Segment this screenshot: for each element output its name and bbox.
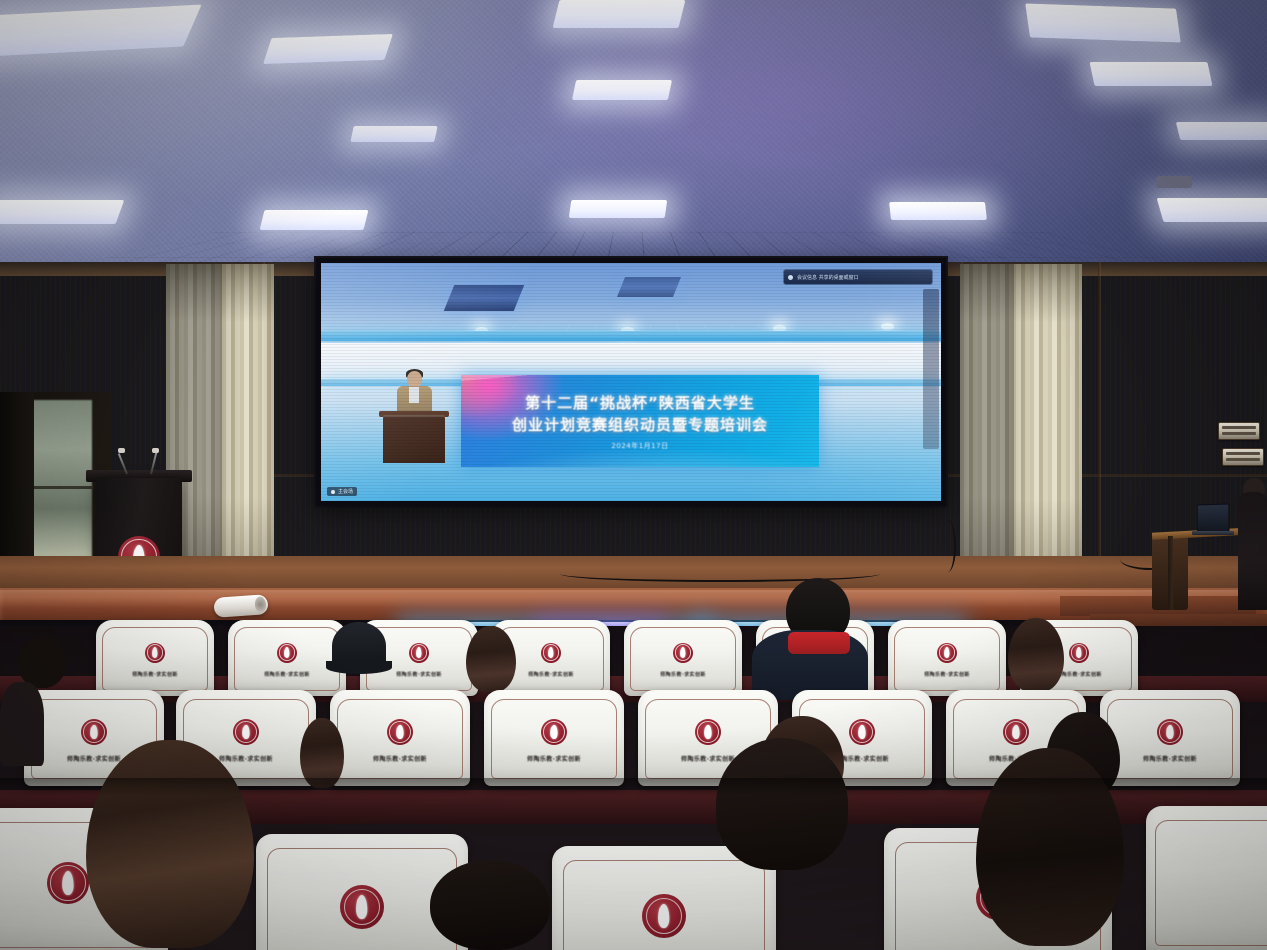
feed-blue-light-band bbox=[321, 331, 941, 341]
chair-motto: 师陶乐教·求实创新 bbox=[924, 671, 970, 678]
seat-chair[interactable]: 师陶乐教·求实创新 bbox=[624, 620, 742, 696]
ceiling-light bbox=[350, 126, 437, 142]
ceiling-light bbox=[889, 202, 987, 220]
conference-icon bbox=[788, 275, 793, 280]
seat-chair[interactable] bbox=[1146, 806, 1267, 950]
head bbox=[716, 738, 848, 870]
conference-side-panel bbox=[923, 289, 939, 449]
led-display: 第十二届“挑战杯”陕西省大学生 创业计划竞赛组织动员暨专题培训会 2024年1月… bbox=[321, 263, 941, 501]
chair-motto: 师陶乐教·求实创新 bbox=[132, 671, 178, 678]
shoulders bbox=[0, 682, 44, 766]
operator-laptop-base[interactable] bbox=[1192, 531, 1234, 535]
row-shadow bbox=[0, 778, 1267, 796]
school-emblem-icon bbox=[541, 719, 567, 745]
school-emblem-icon bbox=[1157, 719, 1183, 745]
chair-cover-piping bbox=[1155, 820, 1267, 946]
wall-air-vent bbox=[1222, 448, 1264, 466]
audience-member-foreground bbox=[430, 860, 550, 950]
seat-chair[interactable]: 师陶乐教·求实创新 bbox=[330, 690, 470, 786]
chair-motto: 师陶乐教·求实创新 bbox=[1143, 754, 1197, 763]
podium-microphone-head bbox=[152, 448, 159, 453]
cap-brim bbox=[326, 661, 393, 674]
seat-chair[interactable]: 师陶乐教·求实创新 bbox=[888, 620, 1006, 696]
school-emblem-icon bbox=[1003, 719, 1029, 745]
banner-title-line2: 创业计划竞赛组织动员暨专题培训会 bbox=[461, 414, 819, 435]
chair-motto: 师陶乐教·求实创新 bbox=[528, 671, 574, 678]
ceiling-light bbox=[1157, 198, 1267, 222]
seat-chair[interactable]: 师陶乐教·求实创新 bbox=[96, 620, 214, 696]
school-emblem-icon bbox=[47, 862, 89, 904]
ceiling-light bbox=[572, 80, 672, 100]
rolled-paper[interactable] bbox=[213, 594, 268, 618]
red-scarf bbox=[788, 632, 850, 654]
feed-ceiling-fixture bbox=[617, 277, 681, 297]
curtain-right bbox=[1012, 264, 1082, 590]
ceiling-color-cast bbox=[0, 0, 1267, 268]
school-emblem-icon bbox=[849, 719, 875, 745]
feed-spotlight bbox=[881, 323, 894, 330]
curtain-left bbox=[222, 264, 274, 588]
school-emblem-icon bbox=[541, 643, 561, 663]
school-emblem-icon bbox=[1069, 643, 1089, 663]
ceiling-light bbox=[1176, 122, 1267, 140]
feed-podium bbox=[383, 415, 445, 463]
school-emblem-icon bbox=[340, 885, 384, 929]
audience-member bbox=[1008, 618, 1064, 694]
audience-member bbox=[466, 626, 516, 696]
hair bbox=[466, 626, 516, 692]
conference-topbar-text: 会议信息 共享的桌面或窗口 bbox=[797, 274, 859, 281]
ceiling-light bbox=[569, 200, 668, 218]
feed-ceiling-fixture bbox=[444, 285, 525, 311]
chair-motto: 师陶乐教·求实创新 bbox=[264, 671, 310, 678]
auditorium-photo: 第十二届“挑战杯”陕西省大学生 创业计划竞赛组织动员暨专题培训会 2024年1月… bbox=[0, 0, 1267, 950]
school-emblem-icon bbox=[387, 719, 413, 745]
hair bbox=[86, 740, 254, 948]
audience-member-foreground bbox=[716, 738, 848, 888]
baseball-cap-icon bbox=[332, 622, 386, 670]
stage-cable bbox=[940, 520, 956, 572]
conference-bottom-label: 主会场 bbox=[327, 487, 357, 496]
audience-member bbox=[752, 578, 868, 698]
ceiling-light bbox=[0, 200, 124, 224]
door-mullion-horizontal bbox=[30, 486, 92, 489]
school-emblem-icon bbox=[642, 894, 686, 938]
event-banner: 第十二届“挑战杯”陕西省大学生 创业计划竞赛组织动员暨专题培训会 2024年1月… bbox=[461, 375, 819, 467]
operator-laptop-screen[interactable] bbox=[1197, 503, 1230, 532]
audience-member bbox=[0, 646, 44, 766]
head bbox=[430, 860, 550, 950]
school-emblem-icon bbox=[145, 643, 165, 663]
projector-box bbox=[1156, 176, 1192, 188]
banner-title-line1: 第十二届“挑战杯”陕西省大学生 bbox=[461, 392, 819, 413]
chair-motto: 师陶乐教·求实创新 bbox=[527, 754, 581, 763]
seat-chair[interactable]: 师陶乐教·求实创新 bbox=[484, 690, 624, 786]
led-display-frame: 第十二届“挑战杯”陕西省大学生 创业计划竞赛组织动员暨专题培训会 2024年1月… bbox=[316, 258, 946, 506]
wall-air-vent bbox=[1218, 422, 1260, 440]
curtain-right-outer bbox=[960, 264, 1014, 586]
ceiling-light bbox=[263, 34, 393, 64]
ceiling-light bbox=[1025, 3, 1181, 42]
conference-bottom-text: 主会场 bbox=[338, 488, 353, 495]
ceiling-light bbox=[553, 0, 686, 28]
chair-motto: 师陶乐教·求实创新 bbox=[660, 671, 706, 678]
banner-date: 2024年1月17日 bbox=[461, 441, 819, 451]
chair-motto: 师陶乐教·求实创新 bbox=[396, 671, 442, 678]
audience-member-foreground bbox=[86, 740, 254, 950]
podium-microphone-head bbox=[118, 448, 125, 453]
banner-wave bbox=[461, 435, 819, 467]
conference-topbar[interactable]: 会议信息 共享的桌面或窗口 bbox=[783, 269, 933, 285]
school-emblem-icon bbox=[673, 643, 693, 663]
ceiling-light bbox=[260, 210, 369, 230]
record-dot-icon bbox=[331, 490, 335, 494]
operator-body bbox=[1238, 492, 1267, 610]
ceiling bbox=[0, 0, 1267, 268]
ceiling-light bbox=[1089, 62, 1212, 86]
seat-chair[interactable]: 师陶乐教·求实创新 bbox=[228, 620, 346, 696]
audience-member bbox=[332, 622, 386, 692]
chair-motto: 师陶乐教·求实创新 bbox=[373, 754, 427, 763]
hair bbox=[1008, 618, 1064, 692]
school-emblem-icon bbox=[277, 643, 297, 663]
feed-speaker-shirt bbox=[409, 387, 419, 403]
operator-table-leg bbox=[1168, 536, 1173, 610]
school-emblem-icon bbox=[937, 643, 957, 663]
school-emblem-icon bbox=[409, 643, 429, 663]
